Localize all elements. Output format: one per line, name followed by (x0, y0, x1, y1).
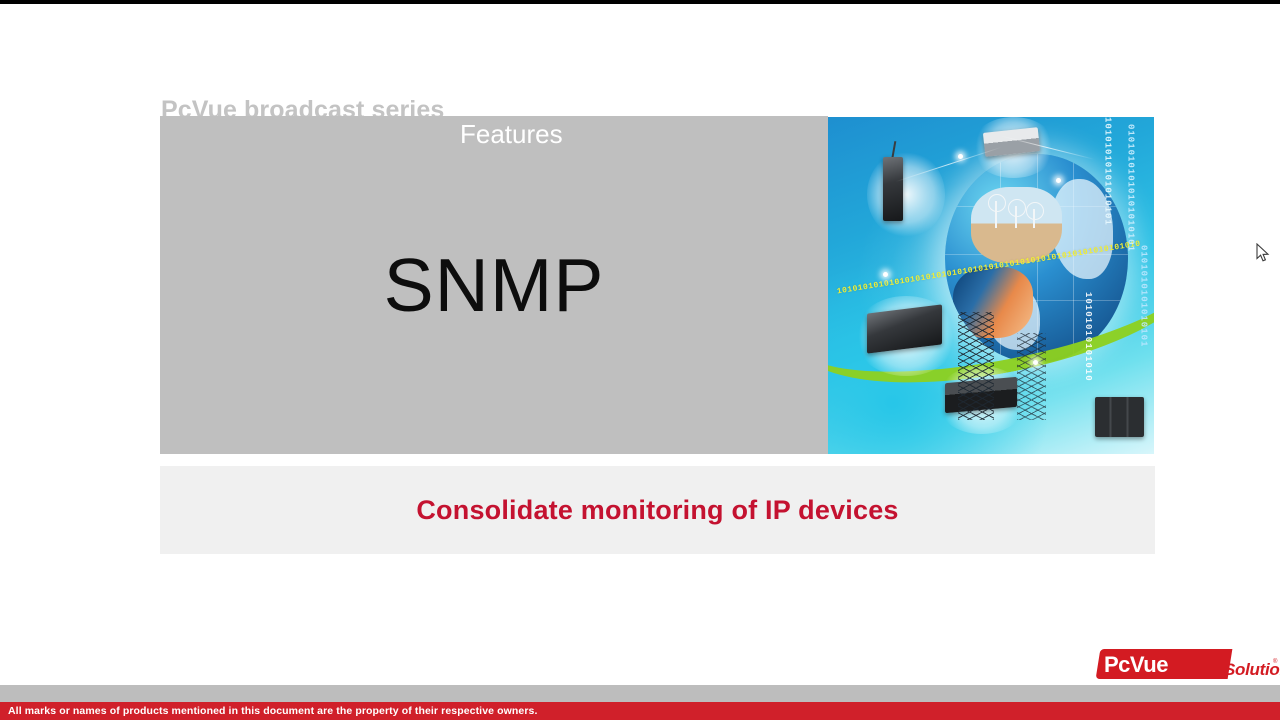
binary-column: 0101010101010101 (1138, 245, 1147, 400)
logo-suffix-text: Solutions (1224, 660, 1280, 680)
pcvue-solutions-logo: PcVue Solutions ® Your Independent Globa… (1096, 644, 1280, 689)
caption-text: Consolidate monitoring of IP devices (416, 495, 898, 526)
node-glow (867, 151, 945, 239)
binary-column: 01010101010101010101 (1125, 124, 1134, 299)
binary-column: 10101010101010 (1083, 292, 1092, 427)
binary-column: 10101010101010101 (1103, 117, 1112, 272)
feature-title: SNMP (160, 116, 828, 454)
footer-disclaimer-bar: All marks or names of products mentioned… (0, 702, 1280, 720)
footer-gray-bar (0, 685, 1280, 702)
registered-mark-icon: ® (1273, 659, 1277, 665)
caption-bar: Consolidate monitoring of IP devices (160, 466, 1155, 554)
content-block: Features SNMP (160, 116, 828, 454)
slide-canvas: PcVue broadcast series Features SNMP 101… (0, 4, 1280, 685)
power-pylon (958, 312, 994, 420)
iot-network-illustration: 1010101010101010101010101010101010101010… (828, 117, 1154, 454)
network-device (883, 157, 903, 221)
power-pylon (1017, 333, 1046, 421)
logo-brand-text: PcVue (1104, 652, 1168, 678)
mouse-cursor (1256, 243, 1270, 263)
network-node (1056, 178, 1061, 183)
footer-disclaimer-text: All marks or names of products mentioned… (8, 705, 537, 717)
server-rack (1095, 397, 1144, 437)
